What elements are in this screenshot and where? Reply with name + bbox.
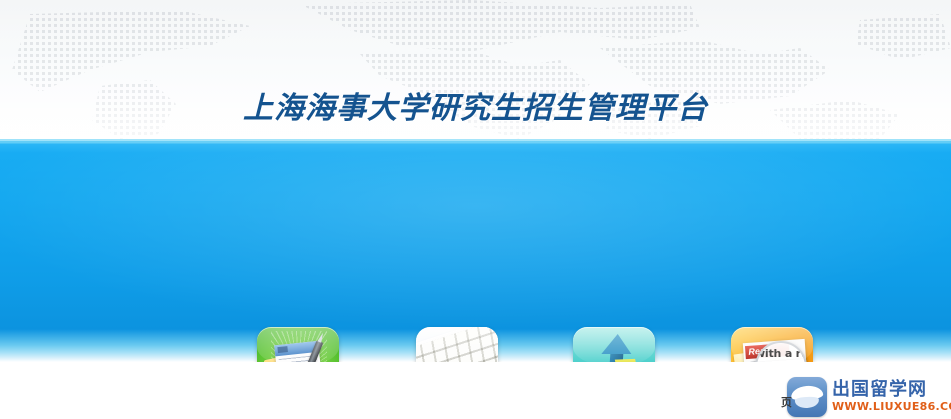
watermark-fragment-glyph: 页 [781,394,792,410]
arrows-chart-icon[interactable]: 100 [573,327,655,362]
app-banner: 硕士推免报名系统 硕士考生查询系统 [0,139,951,362]
watermark-en-text: WWW.LIUXUE86.COM [832,400,951,413]
icon-magnified-text: with a rt and lig mportan [755,346,807,362]
page-title: 上海海事大学研究生招生管理平台 [0,92,951,126]
icon-keyboard-body [416,327,498,362]
app-shortcut-masters-pre-adjustment[interactable]: 100 硕士预调剂系统 [545,327,683,362]
logo-eye-lower [795,396,820,408]
watermark: 出国留学网 WWW.LIUXUE86.COM 页 [787,374,951,419]
magnifier-news-icon[interactable]: with a rt and lig mportan [731,327,813,362]
watermark-logo-icon [787,377,827,417]
site-header: 上海海事大学研究生招生管理平台 [0,0,951,139]
app-shortcut-phd-registration-query[interactable]: with a rt and lig mportan 博士报名查询系统 [703,327,841,362]
page-root: 上海海事大学研究生招生管理平台 硕士推免报名系统 [0,0,951,419]
watermark-text: 出国留学网 WWW.LIUXUE86.COM [832,380,951,413]
watermark-cn-text: 出国留学网 [832,380,951,400]
icon-keyboard-keys [416,327,498,362]
document-pen-icon[interactable] [257,327,339,362]
app-shortcut-row: 硕士推免报名系统 硕士考生查询系统 [228,327,841,362]
app-shortcut-masters-recommend-registration[interactable]: 硕士推免报名系统 [228,327,368,362]
keyboard-icon[interactable] [416,327,498,362]
app-shortcut-masters-candidate-query[interactable]: 硕士考生查询系统 [388,327,526,362]
